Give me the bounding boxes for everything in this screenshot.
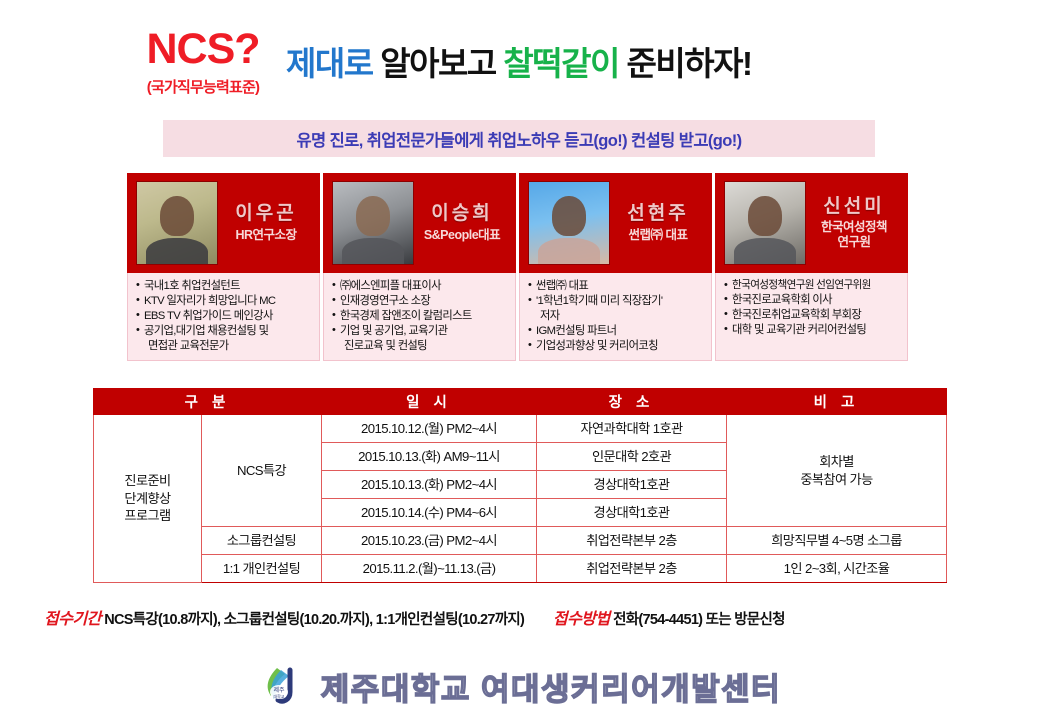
speaker-name: 선현주	[610, 203, 706, 225]
list-item: IGM컨설팅 파트너	[528, 324, 706, 339]
speaker-card: 이우곤 HR연구소장 국내1호 취업컨설턴트 KTV 일자리가 희망입니다 MC…	[127, 173, 320, 361]
table-header-row: 구 분 일 시 장 소 비 고	[94, 389, 947, 415]
footer-logo: 제주 대학교 제주대학교 여대생커리어개발센터	[0, 655, 1040, 717]
list-item: 인재경영연구소 소장	[332, 294, 510, 309]
application-period-label: 접수기간	[44, 611, 101, 628]
speaker-bio: ㈜에스엔피플 대표이사 인재경영연구소 소장 한국경제 잡앤조이 칼럼리스트 기…	[323, 273, 516, 361]
cell-datetime: 2015.10.12.(월) PM2~4시	[322, 415, 537, 443]
cell-place: 경상대학1호관	[537, 499, 727, 527]
list-item: 저자	[528, 309, 706, 324]
list-item: 면접관 교육전문가	[136, 339, 314, 354]
slogan: 제대로 알아보고 찰떡같이 준비하자!	[286, 46, 986, 82]
table-row: 진로준비 단계향상 프로그램 NCS특강 2015.10.12.(월) PM2~…	[94, 415, 947, 443]
speaker-name-block: 이우곤 HR연구소장	[218, 203, 320, 243]
speaker-name-block: 선현주 썬랩㈜ 대표	[610, 203, 712, 243]
subtitle-banner: 유명 진로, 취업전문가들에게 취업노하우 듣고(go!) 컨설팅 받고(go!…	[163, 120, 875, 157]
speaker-title: S&People대표	[414, 228, 510, 243]
list-item: '1학년1학기때 미리 직장잡기'	[528, 294, 706, 309]
speaker-title: HR연구소장	[218, 228, 314, 243]
list-item: 진로교육 및 컨설팅	[332, 339, 510, 354]
list-item: 기업성과향상 및 커리어코칭	[528, 339, 706, 354]
list-item: KTV 일자리가 희망입니다 MC	[136, 294, 314, 309]
application-period-value: NCS특강(10.8까지), 소그룹컨설팅(10.20.까지), 1:1개인컨설…	[104, 612, 524, 628]
speaker-card: 이승희 S&People대표 ㈜에스엔피플 대표이사 인재경영연구소 소장 한국…	[323, 173, 516, 361]
cell-datetime: 2015.10.13.(화) AM9~11시	[322, 443, 537, 471]
list-item: 한국진로교육학회 이사	[724, 293, 902, 308]
speaker-photo	[724, 181, 806, 265]
list-item: 한국경제 잡앤조이 칼럼리스트	[332, 309, 510, 324]
table-row: 소그룹컨설팅 2015.10.23.(금) PM2~4시 취업전략본부 2층 희…	[94, 527, 947, 555]
cell-datetime: 2015.10.13.(화) PM2~4시	[322, 471, 537, 499]
application-info: 접수기간 NCS특강(10.8까지), 소그룹컨설팅(10.20.까지), 1:…	[44, 605, 1004, 629]
cell-datetime: 2015.10.23.(금) PM2~4시	[322, 527, 537, 555]
list-item: 국내1호 취업컨설턴트	[136, 279, 314, 294]
speaker-header: 신선미 한국여성정책 연구원	[715, 173, 908, 273]
speaker-header: 선현주 썬랩㈜ 대표	[519, 173, 712, 273]
slogan-part-1: 제대로	[286, 45, 373, 82]
cell-note: 1인 2~3회, 시간조율	[727, 555, 947, 583]
poster-root: NCS? (국가직무능력표준) 제대로 알아보고 찰떡같이 준비하자! 유명 진…	[0, 0, 1040, 720]
cell-type: 소그룹컨설팅	[202, 527, 322, 555]
ncs-main-title: NCS?	[108, 28, 298, 71]
speaker-bio: 한국여성정책연구원 선임연구위원 한국진로교육학회 이사 한국진로취업교육학회 …	[715, 273, 908, 361]
list-item: 기업 및 공기업, 교육기관	[332, 324, 510, 339]
cell-place: 취업전략본부 2층	[537, 555, 727, 583]
speaker-name: 이승희	[414, 203, 510, 225]
speaker-title: 썬랩㈜ 대표	[610, 228, 706, 243]
schedule-table-wrap: 구 분 일 시 장 소 비 고 진로준비 단계향상 프로그램 NCS특강 201…	[93, 388, 946, 583]
list-item: 공기업,대기업 채용컨설팅 및	[136, 324, 314, 339]
headline: NCS? (국가직무능력표준) 제대로 알아보고 찰떡같이 준비하자!	[0, 20, 1040, 112]
speaker-header: 이우곤 HR연구소장	[127, 173, 320, 273]
svg-text:제주: 제주	[273, 686, 285, 694]
ncs-title-block: NCS? (국가직무능력표준)	[108, 28, 298, 97]
application-method-value: 전화(754-4451) 또는 방문신청	[613, 612, 785, 628]
subtitle-banner-text: 유명 진로, 취업전문가들에게 취업노하우 듣고(go!) 컨설팅 받고(go!…	[296, 127, 741, 151]
speaker-bio: 국내1호 취업컨설턴트 KTV 일자리가 희망입니다 MC EBS TV 취업가…	[127, 273, 320, 361]
cell-place: 경상대학1호관	[537, 471, 727, 499]
speaker-bio: 썬랩㈜ 대표 '1학년1학기때 미리 직장잡기' 저자 IGM컨설팅 파트너 기…	[519, 273, 712, 361]
column-header-note: 비 고	[727, 389, 947, 415]
speaker-card-list: 이우곤 HR연구소장 국내1호 취업컨설턴트 KTV 일자리가 희망입니다 MC…	[127, 173, 917, 361]
speaker-photo	[528, 181, 610, 265]
footer-logo-text: 제주대학교 여대생커리어개발센터	[321, 664, 781, 709]
table-row: 1:1 개인컨설팅 2015.11.2.(월)~11.13.(금) 취업전략본부…	[94, 555, 947, 583]
application-method-label: 접수방법	[553, 611, 610, 628]
speaker-name: 이우곤	[218, 203, 314, 225]
cell-type: NCS특강	[202, 415, 322, 527]
column-header-category: 구 분	[94, 389, 322, 415]
list-item: 대학 및 교육기관 커리어컨설팅	[724, 323, 902, 338]
cell-note: 희망직무별 4~5명 소그룹	[727, 527, 947, 555]
cell-category: 진로준비 단계향상 프로그램	[94, 415, 202, 583]
cell-place: 취업전략본부 2층	[537, 527, 727, 555]
cell-place: 인문대학 2호관	[537, 443, 727, 471]
list-item: EBS TV 취업가이드 메인강사	[136, 309, 314, 324]
cell-note: 회차별 중복참여 가능	[727, 415, 947, 527]
schedule-table: 구 분 일 시 장 소 비 고 진로준비 단계향상 프로그램 NCS특강 201…	[93, 388, 947, 583]
list-item: 한국여성정책연구원 선임연구위원	[724, 279, 902, 293]
speaker-name: 신선미	[806, 196, 902, 218]
speaker-photo	[332, 181, 414, 265]
cell-place: 자연과학대학 1호관	[537, 415, 727, 443]
cell-datetime: 2015.10.14.(수) PM4~6시	[322, 499, 537, 527]
list-item: 썬랩㈜ 대표	[528, 279, 706, 294]
slogan-part-2: 알아보고	[380, 45, 495, 82]
cell-datetime: 2015.11.2.(월)~11.13.(금)	[322, 555, 537, 583]
jeju-university-logo-icon: 제주 대학교	[259, 662, 305, 710]
list-item: 한국진로취업교육학회 부회장	[724, 308, 902, 323]
list-item: ㈜에스엔피플 대표이사	[332, 279, 510, 294]
slogan-part-4: 준비하자!	[627, 45, 752, 82]
speaker-title: 한국여성정책 연구원	[806, 220, 902, 250]
column-header-place: 장 소	[537, 389, 727, 415]
speaker-name-block: 이승희 S&People대표	[414, 203, 516, 243]
speaker-header: 이승희 S&People대표	[323, 173, 516, 273]
column-header-datetime: 일 시	[322, 389, 537, 415]
cell-type: 1:1 개인컨설팅	[202, 555, 322, 583]
speaker-card: 선현주 썬랩㈜ 대표 썬랩㈜ 대표 '1학년1학기때 미리 직장잡기' 저자 I…	[519, 173, 712, 361]
svg-text:대학교: 대학교	[273, 693, 284, 699]
speaker-photo	[136, 181, 218, 265]
ncs-subtitle: (국가직무능력표준)	[108, 76, 298, 97]
speaker-name-block: 신선미 한국여성정책 연구원	[806, 196, 908, 251]
speaker-card: 신선미 한국여성정책 연구원 한국여성정책연구원 선임연구위원 한국진로교육학회…	[715, 173, 908, 361]
slogan-part-3: 찰떡같이	[503, 45, 618, 82]
